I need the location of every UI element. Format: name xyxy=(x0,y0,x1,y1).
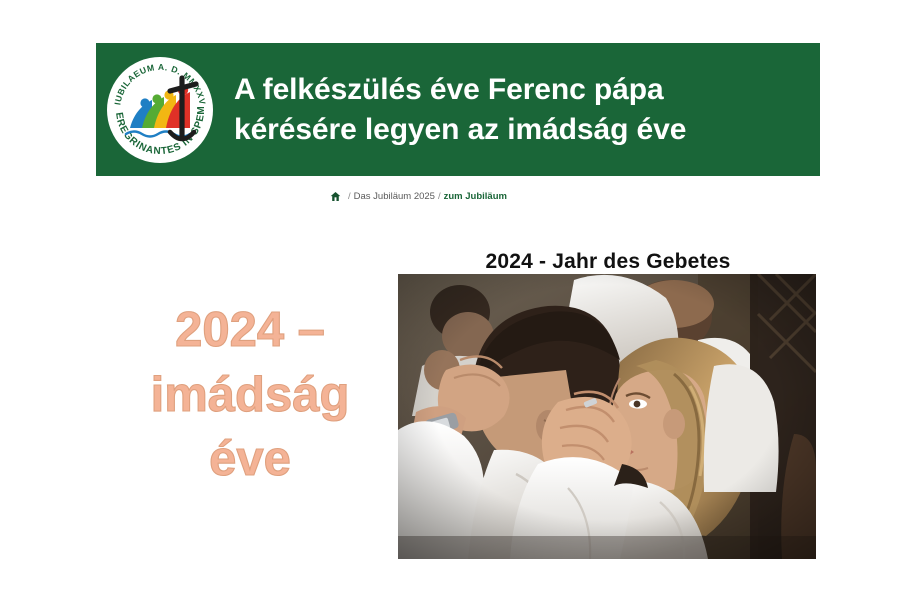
breadcrumb-separator-1: / xyxy=(348,191,351,202)
breadcrumb-separator-2: / xyxy=(438,191,441,202)
banner-title: A felkészülés éve Ferenc pápa kérésére l… xyxy=(234,70,820,149)
orange-text-line2: imádság xyxy=(110,363,390,428)
orange-year-of-prayer-text: 2024 – imádság éve xyxy=(110,298,390,492)
home-icon[interactable] xyxy=(330,191,341,202)
jubilee-2025-logo-icon: IUBILAEUM A. D. MMXXV PEREGRINANTES IN S… xyxy=(104,54,216,166)
banner-title-line2: kérésére legyen az imádság éve xyxy=(234,110,802,150)
breadcrumb-item-jubilaeum-2025[interactable]: Das Jubiläum 2025 xyxy=(354,191,435,202)
content-area: / Das Jubiläum 2025 / zum Jubiläum 2024 … xyxy=(0,176,900,600)
orange-text-line1: 2024 – xyxy=(110,298,390,363)
people-praying-photo xyxy=(398,274,816,559)
page-title: 2024 - Jahr des Gebetes xyxy=(398,250,818,274)
banner-title-line1: A felkészülés éve Ferenc pápa xyxy=(234,70,802,110)
breadcrumb-item-current[interactable]: zum Jubiläum xyxy=(444,191,507,202)
page-root: IUBILAEUM A. D. MMXXV PEREGRINANTES IN S… xyxy=(0,0,900,600)
orange-text-line3: éve xyxy=(110,427,390,492)
jubilee-banner: IUBILAEUM A. D. MMXXV PEREGRINANTES IN S… xyxy=(96,43,820,176)
breadcrumb: / Das Jubiläum 2025 / zum Jubiläum xyxy=(330,191,507,202)
